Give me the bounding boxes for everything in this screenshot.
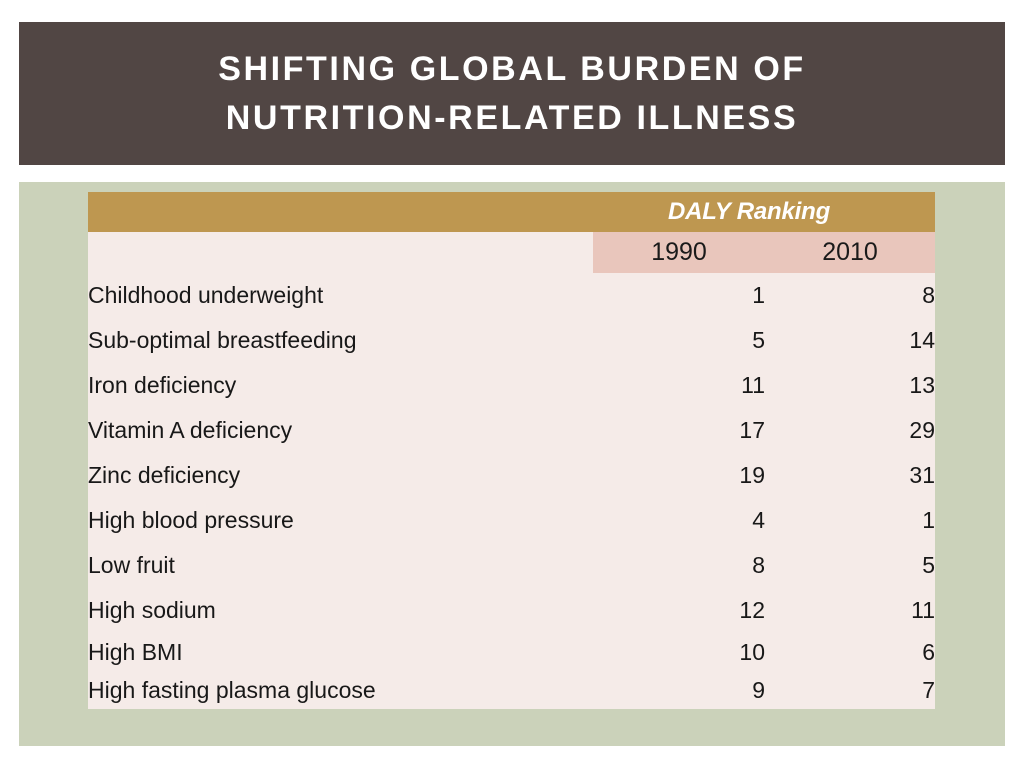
row-label: Vitamin A deficiency — [88, 408, 593, 453]
rank-2010: 7 — [765, 671, 935, 709]
table-group-header-row: DALY Ranking — [88, 192, 935, 232]
column-header-spacer — [88, 232, 593, 273]
row-label: High blood pressure — [88, 498, 593, 543]
table-row: Iron deficiency1113 — [88, 363, 935, 408]
daly-ranking-label: DALY Ranking — [593, 198, 935, 226]
row-label: Zinc deficiency — [88, 453, 593, 498]
rank-1990: 12 — [593, 588, 765, 633]
table-row: Zinc deficiency1931 — [88, 453, 935, 498]
table-row: High sodium1211 — [88, 588, 935, 633]
rank-1990: 5 — [593, 318, 765, 363]
table-row: High blood pressure41 — [88, 498, 935, 543]
group-header-spacer — [88, 192, 593, 232]
table-row: Childhood underweight18 — [88, 273, 935, 318]
rank-1990: 9 — [593, 671, 765, 709]
group-header-cell: DALY Ranking — [593, 192, 935, 232]
rank-2010: 5 — [765, 543, 935, 588]
rank-1990: 8 — [593, 543, 765, 588]
column-header-2010: 2010 — [765, 232, 935, 273]
row-label: High BMI — [88, 633, 593, 671]
table-row: High BMI106 — [88, 633, 935, 671]
row-label: High sodium — [88, 588, 593, 633]
row-label: Sub-optimal breastfeeding — [88, 318, 593, 363]
row-label: Low fruit — [88, 543, 593, 588]
row-label: Iron deficiency — [88, 363, 593, 408]
page-title: Shifting Global Burden of Nutrition-Rela… — [218, 45, 806, 142]
rank-1990: 4 — [593, 498, 765, 543]
rank-2010: 8 — [765, 273, 935, 318]
rank-2010: 11 — [765, 588, 935, 633]
table-row: Low fruit85 — [88, 543, 935, 588]
table-row: Sub-optimal breastfeeding514 — [88, 318, 935, 363]
table-row: High fasting plasma glucose97 — [88, 671, 935, 709]
table-column-header-row: 19902010 — [88, 232, 935, 273]
rank-1990: 17 — [593, 408, 765, 453]
rank-1990: 10 — [593, 633, 765, 671]
daly-ranking-table: DALY Ranking19902010Childhood underweigh… — [88, 192, 935, 709]
slide-title-bar: Shifting Global Burden of Nutrition-Rela… — [19, 22, 1005, 165]
rank-2010: 6 — [765, 633, 935, 671]
rank-2010: 29 — [765, 408, 935, 453]
rank-2010: 31 — [765, 453, 935, 498]
table-row: Vitamin A deficiency1729 — [88, 408, 935, 453]
rank-1990: 19 — [593, 453, 765, 498]
column-header-1990: 1990 — [593, 232, 765, 273]
row-label: Childhood underweight — [88, 273, 593, 318]
row-label: High fasting plasma glucose — [88, 671, 593, 709]
rank-1990: 11 — [593, 363, 765, 408]
rank-2010: 14 — [765, 318, 935, 363]
rank-2010: 13 — [765, 363, 935, 408]
rank-1990: 1 — [593, 273, 765, 318]
rank-2010: 1 — [765, 498, 935, 543]
content-panel: DALY Ranking19902010Childhood underweigh… — [19, 182, 1005, 746]
